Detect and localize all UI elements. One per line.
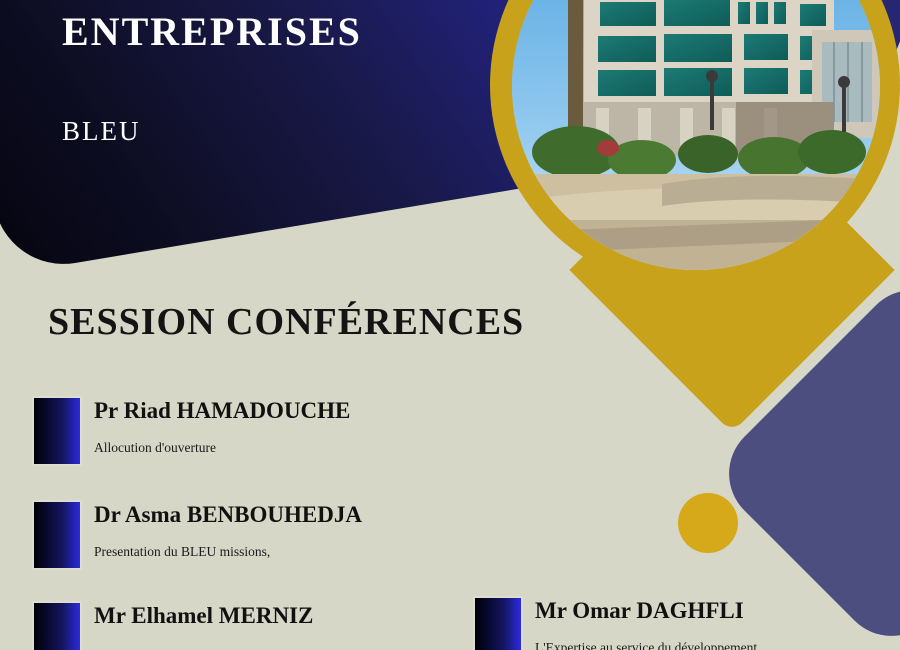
gold-circle-accent bbox=[678, 493, 738, 553]
poster-canvas: ENTREPRISES BLEU SESSION CONFÉRENCES Pr … bbox=[0, 0, 900, 650]
speaker-name: Mr Omar DAGHFLI bbox=[535, 598, 744, 624]
speaker-name: Mr Elhamel MERNIZ bbox=[94, 603, 313, 629]
bullet-square-icon bbox=[32, 396, 82, 466]
speaker-role: Allocution d'ouverture bbox=[94, 440, 216, 456]
speaker-name: Dr Asma BENBOUHEDJA bbox=[94, 502, 362, 528]
page-subtitle: BLEU bbox=[62, 116, 141, 147]
speaker-role: L'Expertise au service du développement bbox=[535, 640, 757, 650]
speaker-role: Presentation du BLEU missions, bbox=[94, 544, 270, 560]
bullet-square-icon bbox=[32, 500, 82, 570]
page-title: ENTREPRISES bbox=[62, 8, 362, 55]
bullet-square-icon bbox=[32, 601, 82, 650]
bullet-square-icon bbox=[473, 596, 523, 650]
speaker-name: Pr Riad HAMADOUCHE bbox=[94, 398, 350, 424]
section-title: SESSION CONFÉRENCES bbox=[48, 300, 524, 344]
